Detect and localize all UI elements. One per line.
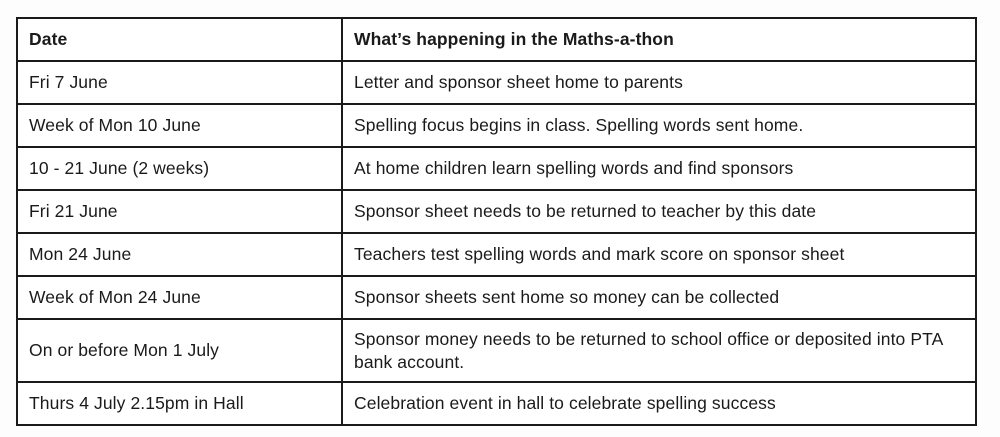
table-row: Fri 7 JuneLetter and sponsor sheet home … xyxy=(17,61,976,104)
table-cell-date: 10 - 21 June (2 weeks) xyxy=(17,147,342,190)
table-cell-date: Fri 7 June xyxy=(17,61,342,104)
table-header-row: Date What’s happening in the Maths-a-tho… xyxy=(17,18,976,61)
table-header: Date What’s happening in the Maths-a-tho… xyxy=(17,18,976,61)
column-header-description: What’s happening in the Maths-a-thon xyxy=(342,18,976,61)
table-cell-date: Week of Mon 10 June xyxy=(17,104,342,147)
table-cell-description: Sponsor money needs to be returned to sc… xyxy=(342,319,976,382)
table-cell-date: On or before Mon 1 July xyxy=(17,319,342,382)
table-row: Thurs 4 July 2.15pm in HallCelebration e… xyxy=(17,382,976,425)
table-body: Fri 7 JuneLetter and sponsor sheet home … xyxy=(17,61,976,425)
table-cell-description: At home children learn spelling words an… xyxy=(342,147,976,190)
table-row: Fri 21 JuneSponsor sheet needs to be ret… xyxy=(17,190,976,233)
table-row: Mon 24 JuneTeachers test spelling words … xyxy=(17,233,976,276)
table-cell-date: Fri 21 June xyxy=(17,190,342,233)
table-cell-description: Spelling focus begins in class. Spelling… xyxy=(342,104,976,147)
column-header-date: Date xyxy=(17,18,342,61)
table-cell-date: Mon 24 June xyxy=(17,233,342,276)
table-row: Week of Mon 24 JuneSponsor sheets sent h… xyxy=(17,276,976,319)
table-cell-description: Letter and sponsor sheet home to parents xyxy=(342,61,976,104)
table-cell-description: Celebration event in hall to celebrate s… xyxy=(342,382,976,425)
table-cell-description: Teachers test spelling words and mark sc… xyxy=(342,233,976,276)
table-row: 10 - 21 June (2 weeks)At home children l… xyxy=(17,147,976,190)
table-cell-description: Sponsor sheet needs to be returned to te… xyxy=(342,190,976,233)
table-cell-date: Week of Mon 24 June xyxy=(17,276,342,319)
table-row: Week of Mon 10 JuneSpelling focus begins… xyxy=(17,104,976,147)
table-row: On or before Mon 1 JulySponsor money nee… xyxy=(17,319,976,382)
maths-a-thon-schedule-table: Date What’s happening in the Maths-a-tho… xyxy=(16,17,977,426)
table-cell-description: Sponsor sheets sent home so money can be… xyxy=(342,276,976,319)
table-cell-date: Thurs 4 July 2.15pm in Hall xyxy=(17,382,342,425)
page-root: Date What’s happening in the Maths-a-tho… xyxy=(0,0,1000,437)
